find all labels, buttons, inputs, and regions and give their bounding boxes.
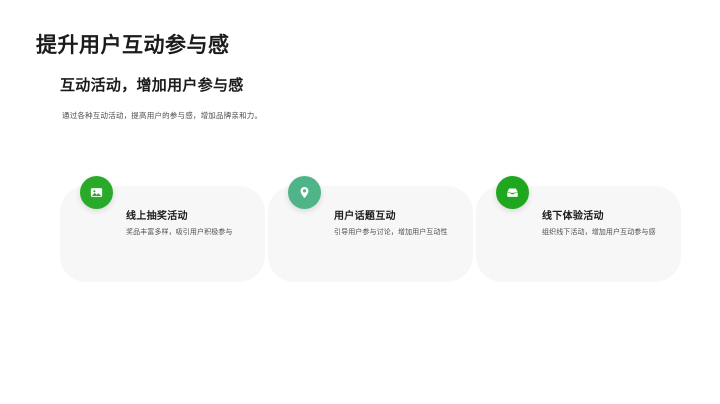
card-description: 引导用户参与讨论，增加用户互动性 — [334, 227, 462, 238]
section-heading: 互动活动，增加用户参与感 — [60, 74, 244, 95]
card-topic-interaction[interactable]: 用户话题互动 引导用户参与讨论，增加用户互动性 — [268, 186, 473, 282]
cards-row: 线上抽奖活动 奖品丰富多样，吸引用户积极参与 用户话题互动 引导用户参与讨论，增… — [0, 186, 720, 286]
card-title: 线下体验活动 — [542, 210, 670, 223]
card-title: 用户话题互动 — [334, 210, 462, 223]
card-body: 用户话题互动 引导用户参与讨论，增加用户互动性 — [334, 210, 462, 238]
section-description: 通过各种互动活动，提高用户的参与感，增加品牌亲和力。 — [62, 110, 262, 121]
slide-canvas: 提升用户互动参与感 互动活动，增加用户参与感 通过各种互动活动，提高用户的参与感… — [0, 0, 720, 404]
location-pin-icon — [288, 176, 321, 209]
page-title: 提升用户互动参与感 — [36, 29, 230, 59]
card-title: 线上抽奖活动 — [126, 210, 254, 223]
image-icon — [80, 176, 113, 209]
card-body: 线下体验活动 组织线下活动，增加用户互动参与感 — [542, 210, 670, 238]
card-body: 线上抽奖活动 奖品丰富多样，吸引用户积极参与 — [126, 210, 254, 238]
inbox-envelope-icon — [496, 176, 529, 209]
card-description: 组织线下活动，增加用户互动参与感 — [542, 227, 670, 238]
card-online-lottery[interactable]: 线上抽奖活动 奖品丰富多样，吸引用户积极参与 — [60, 186, 265, 282]
card-offline-experience[interactable]: 线下体验活动 组织线下活动，增加用户互动参与感 — [476, 186, 681, 282]
card-description: 奖品丰富多样，吸引用户积极参与 — [126, 227, 254, 238]
